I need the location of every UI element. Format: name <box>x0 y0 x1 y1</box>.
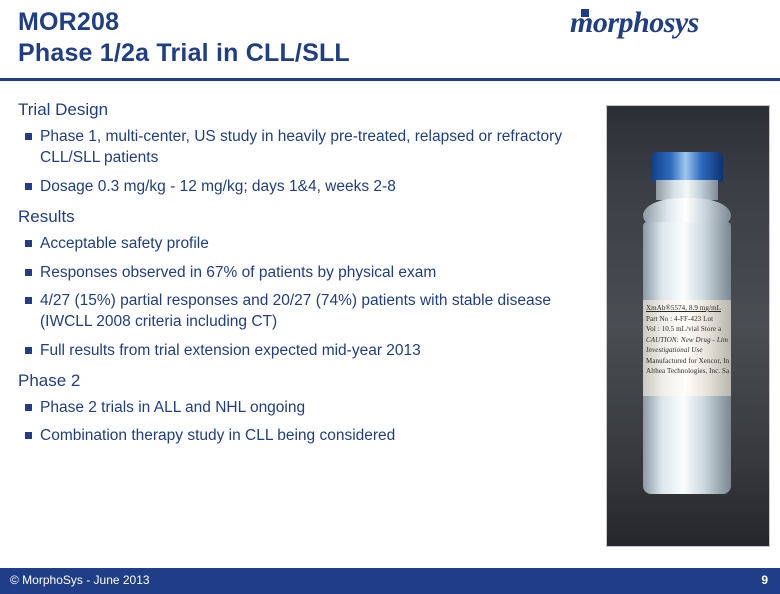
vial-label-line: Vol : 10.5 mL/vial Store a <box>646 324 729 335</box>
bullet-list: Phase 2 trials in ALL and NHL ongoing Co… <box>10 397 598 447</box>
vial-label-line: Investigational Use <box>646 345 729 356</box>
bullet-list: Phase 1, multi-center, US study in heavi… <box>10 126 598 197</box>
vial-label-line: Part No : 4-FF-423 Lot <box>646 314 729 325</box>
svg-text:morphosys: morphosys <box>570 6 699 39</box>
vial-label: XmAb®5574, 8.9 mg/mL Part No : 4-FF-423 … <box>643 300 731 396</box>
vial-label-line: CAUTION: New Drug - Lim <box>646 335 729 346</box>
section-trial-design: Trial Design Phase 1, multi-center, US s… <box>10 100 598 197</box>
list-item: Acceptable safety profile <box>10 233 598 254</box>
list-item: Phase 1, multi-center, US study in heavi… <box>10 126 598 169</box>
section-heading: Phase 2 <box>18 371 598 391</box>
section-heading: Trial Design <box>18 100 598 120</box>
list-item: Full results from trial extension expect… <box>10 340 598 361</box>
vial-label-line: Manufactured for Xencor, In <box>646 356 729 367</box>
morphosys-logo: morphosys <box>570 6 770 40</box>
vial-label-line: XmAb®5574, 8.9 mg/mL <box>646 303 729 314</box>
page-number: 9 <box>761 573 768 587</box>
drug-vial-photo: XmAb®5574, 8.9 mg/mL Part No : 4-FF-423 … <box>606 105 770 547</box>
vial-shoulder <box>643 198 731 224</box>
section-heading: Results <box>18 207 598 227</box>
section-results: Results Acceptable safety profile Respon… <box>10 207 598 361</box>
list-item: 4/27 (15%) partial responses and 20/27 (… <box>10 290 598 333</box>
list-item: Responses observed in 67% of patients by… <box>10 262 598 283</box>
vial-cap <box>651 152 723 182</box>
section-phase-2: Phase 2 Phase 2 trials in ALL and NHL on… <box>10 371 598 447</box>
bullet-list: Acceptable safety profile Responses obse… <box>10 233 598 361</box>
copyright-text: © MorphoSys - June 2013 <box>10 573 150 587</box>
slide-footer: © MorphoSys - June 2013 9 <box>0 568 780 594</box>
header-divider <box>0 78 780 81</box>
list-item: Combination therapy study in CLL being c… <box>10 425 598 446</box>
list-item: Dosage 0.3 mg/kg - 12 mg/kg; days 1&4, w… <box>10 176 598 197</box>
title-line-1: MOR208 <box>18 7 350 38</box>
vial-illustration: XmAb®5574, 8.9 mg/mL Part No : 4-FF-423 … <box>633 152 741 502</box>
vial-neck <box>656 180 718 200</box>
page-title: MOR208 Phase 1/2a Trial in CLL/SLL <box>18 7 350 68</box>
slide: MOR208 Phase 1/2a Trial in CLL/SLL morph… <box>0 0 780 594</box>
vial-label-line: Althea Technologies, Inc. Sa <box>646 366 729 377</box>
title-line-2: Phase 1/2a Trial in CLL/SLL <box>18 38 350 69</box>
slide-content: Trial Design Phase 1, multi-center, US s… <box>10 100 598 457</box>
list-item: Phase 2 trials in ALL and NHL ongoing <box>10 397 598 418</box>
slide-header: MOR208 Phase 1/2a Trial in CLL/SLL morph… <box>0 0 780 78</box>
